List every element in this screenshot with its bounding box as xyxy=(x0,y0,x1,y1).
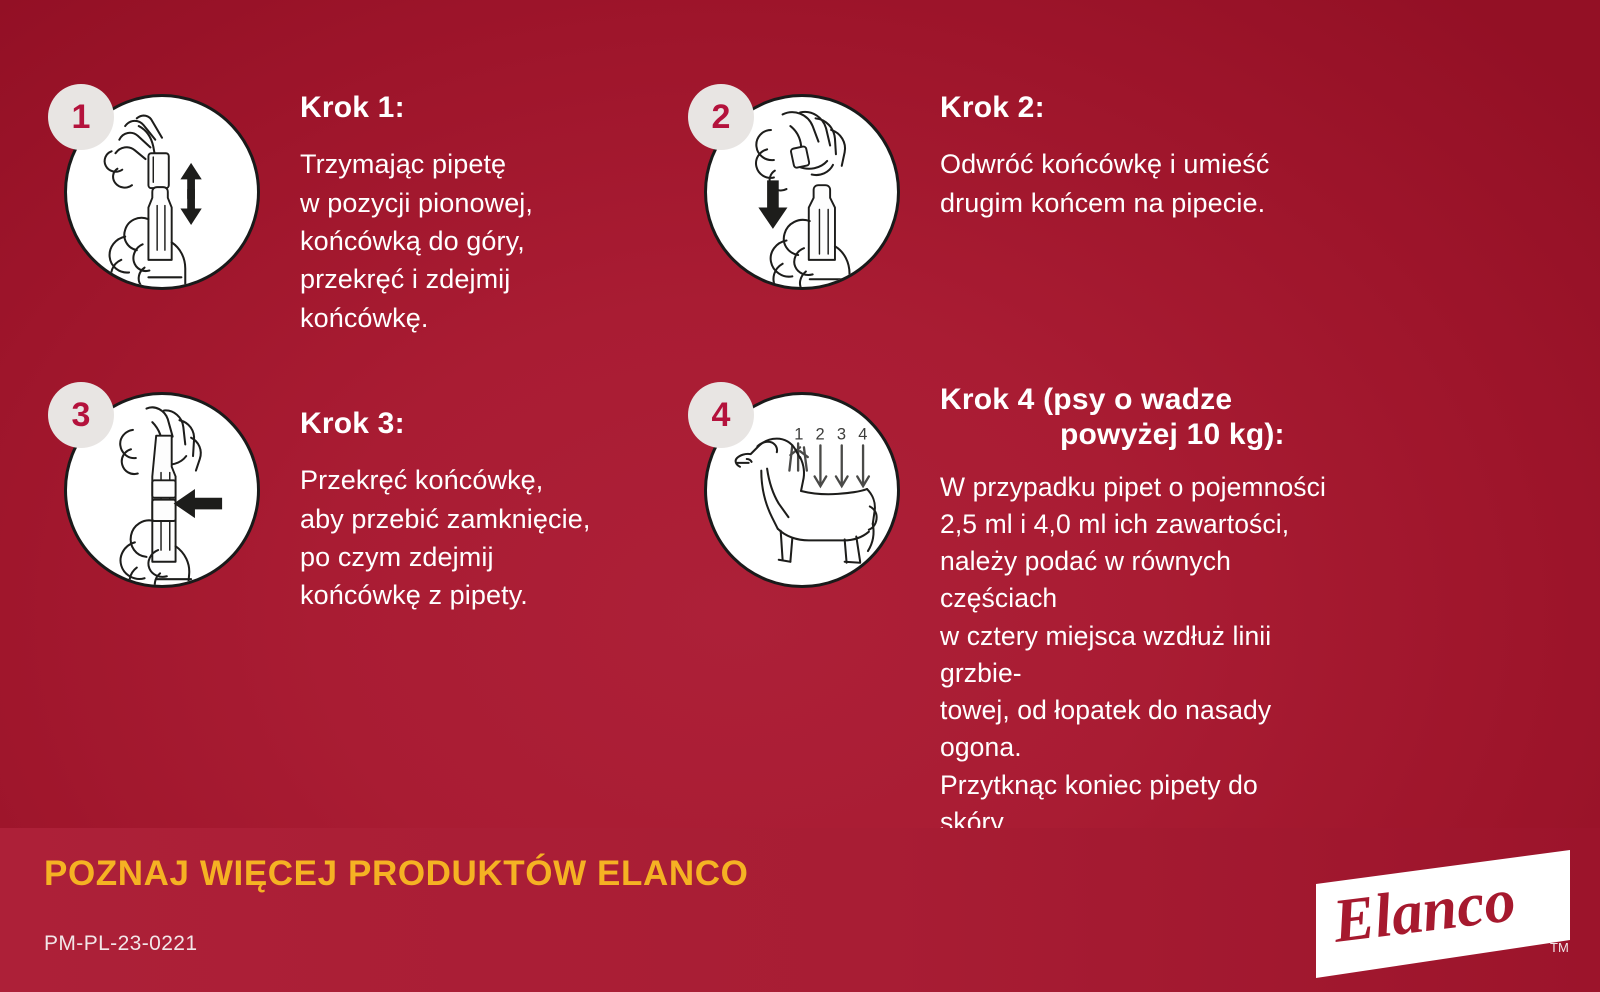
step-4-illustration-wrap: 1 2 3 4 xyxy=(688,382,902,596)
footer-material-code: PM-PL-23-0221 xyxy=(44,932,197,956)
steps-grid: 1 Krok 1: Trzymając pipetę w pozycji pio… xyxy=(0,0,1600,828)
footer-headline: POZNAJ WIĘCEJ PRODUKTÓW ELANCO xyxy=(44,854,748,894)
dog-point-label-1: 1 xyxy=(794,426,803,444)
step-3-illustration-wrap: 3 xyxy=(48,382,262,596)
step-4-title-line1: Krok 4 (psy o wadze xyxy=(940,383,1232,416)
step-badge-4: 4 xyxy=(688,382,754,448)
step-2-body: Odwróć końcówkę i umieść drugim końcem n… xyxy=(940,145,1328,222)
step-1-title: Krok 1: xyxy=(300,90,668,125)
step-badge-2: 2 xyxy=(688,84,754,150)
step-3-text: Krok 3: Przekręć końcówkę, aby przebić z… xyxy=(262,382,668,615)
step-1-text: Krok 1: Trzymając pipetę w pozycji piono… xyxy=(262,84,668,337)
step-badge-3: 3 xyxy=(48,382,114,448)
step-3-body: Przekręć końcówkę, aby przebić zamknięci… xyxy=(300,461,668,614)
step-badge-1-number: 1 xyxy=(72,100,91,134)
step-card-2: 2 Krok 2: Odwróć końcówkę i umieść drugi… xyxy=(688,84,1328,298)
step-1-body: Trzymając pipetę w pozycji pionowej, koń… xyxy=(300,145,668,337)
step-badge-3-number: 3 xyxy=(72,398,91,432)
elanco-logo-trademark: TM xyxy=(1550,940,1569,955)
step-1-illustration-wrap: 1 xyxy=(48,84,262,298)
step-badge-2-number: 2 xyxy=(712,100,731,134)
step-badge-4-number: 4 xyxy=(712,398,731,432)
step-4-title-line2: powyżej 10 kg): xyxy=(940,417,1328,452)
step-badge-1: 1 xyxy=(48,84,114,150)
poster: 1 Krok 1: Trzymając pipetę w pozycji pio… xyxy=(0,0,1600,992)
elanco-logo: Elanco TM xyxy=(1300,836,1586,986)
step-4-title: Krok 4 (psy o wadzepowyżej 10 kg): xyxy=(940,382,1328,453)
dog-point-label-4: 4 xyxy=(858,426,867,444)
step-2-illustration-wrap: 2 xyxy=(688,84,902,298)
footer-bar: POZNAJ WIĘCEJ PRODUKTÓW ELANCO PM-PL-23-… xyxy=(0,828,1600,992)
dog-point-label-3: 3 xyxy=(837,426,846,444)
step-2-text: Krok 2: Odwróć końcówkę i umieść drugim … xyxy=(902,84,1328,222)
step-3-title: Krok 3: xyxy=(300,406,668,441)
step-card-3: 3 Krok 3: Przekręć końcówkę, aby przebić… xyxy=(48,382,668,615)
step-2-title: Krok 2: xyxy=(940,90,1328,125)
dog-point-label-2: 2 xyxy=(816,426,825,444)
step-card-1: 1 Krok 1: Trzymając pipetę w pozycji pio… xyxy=(48,84,668,337)
